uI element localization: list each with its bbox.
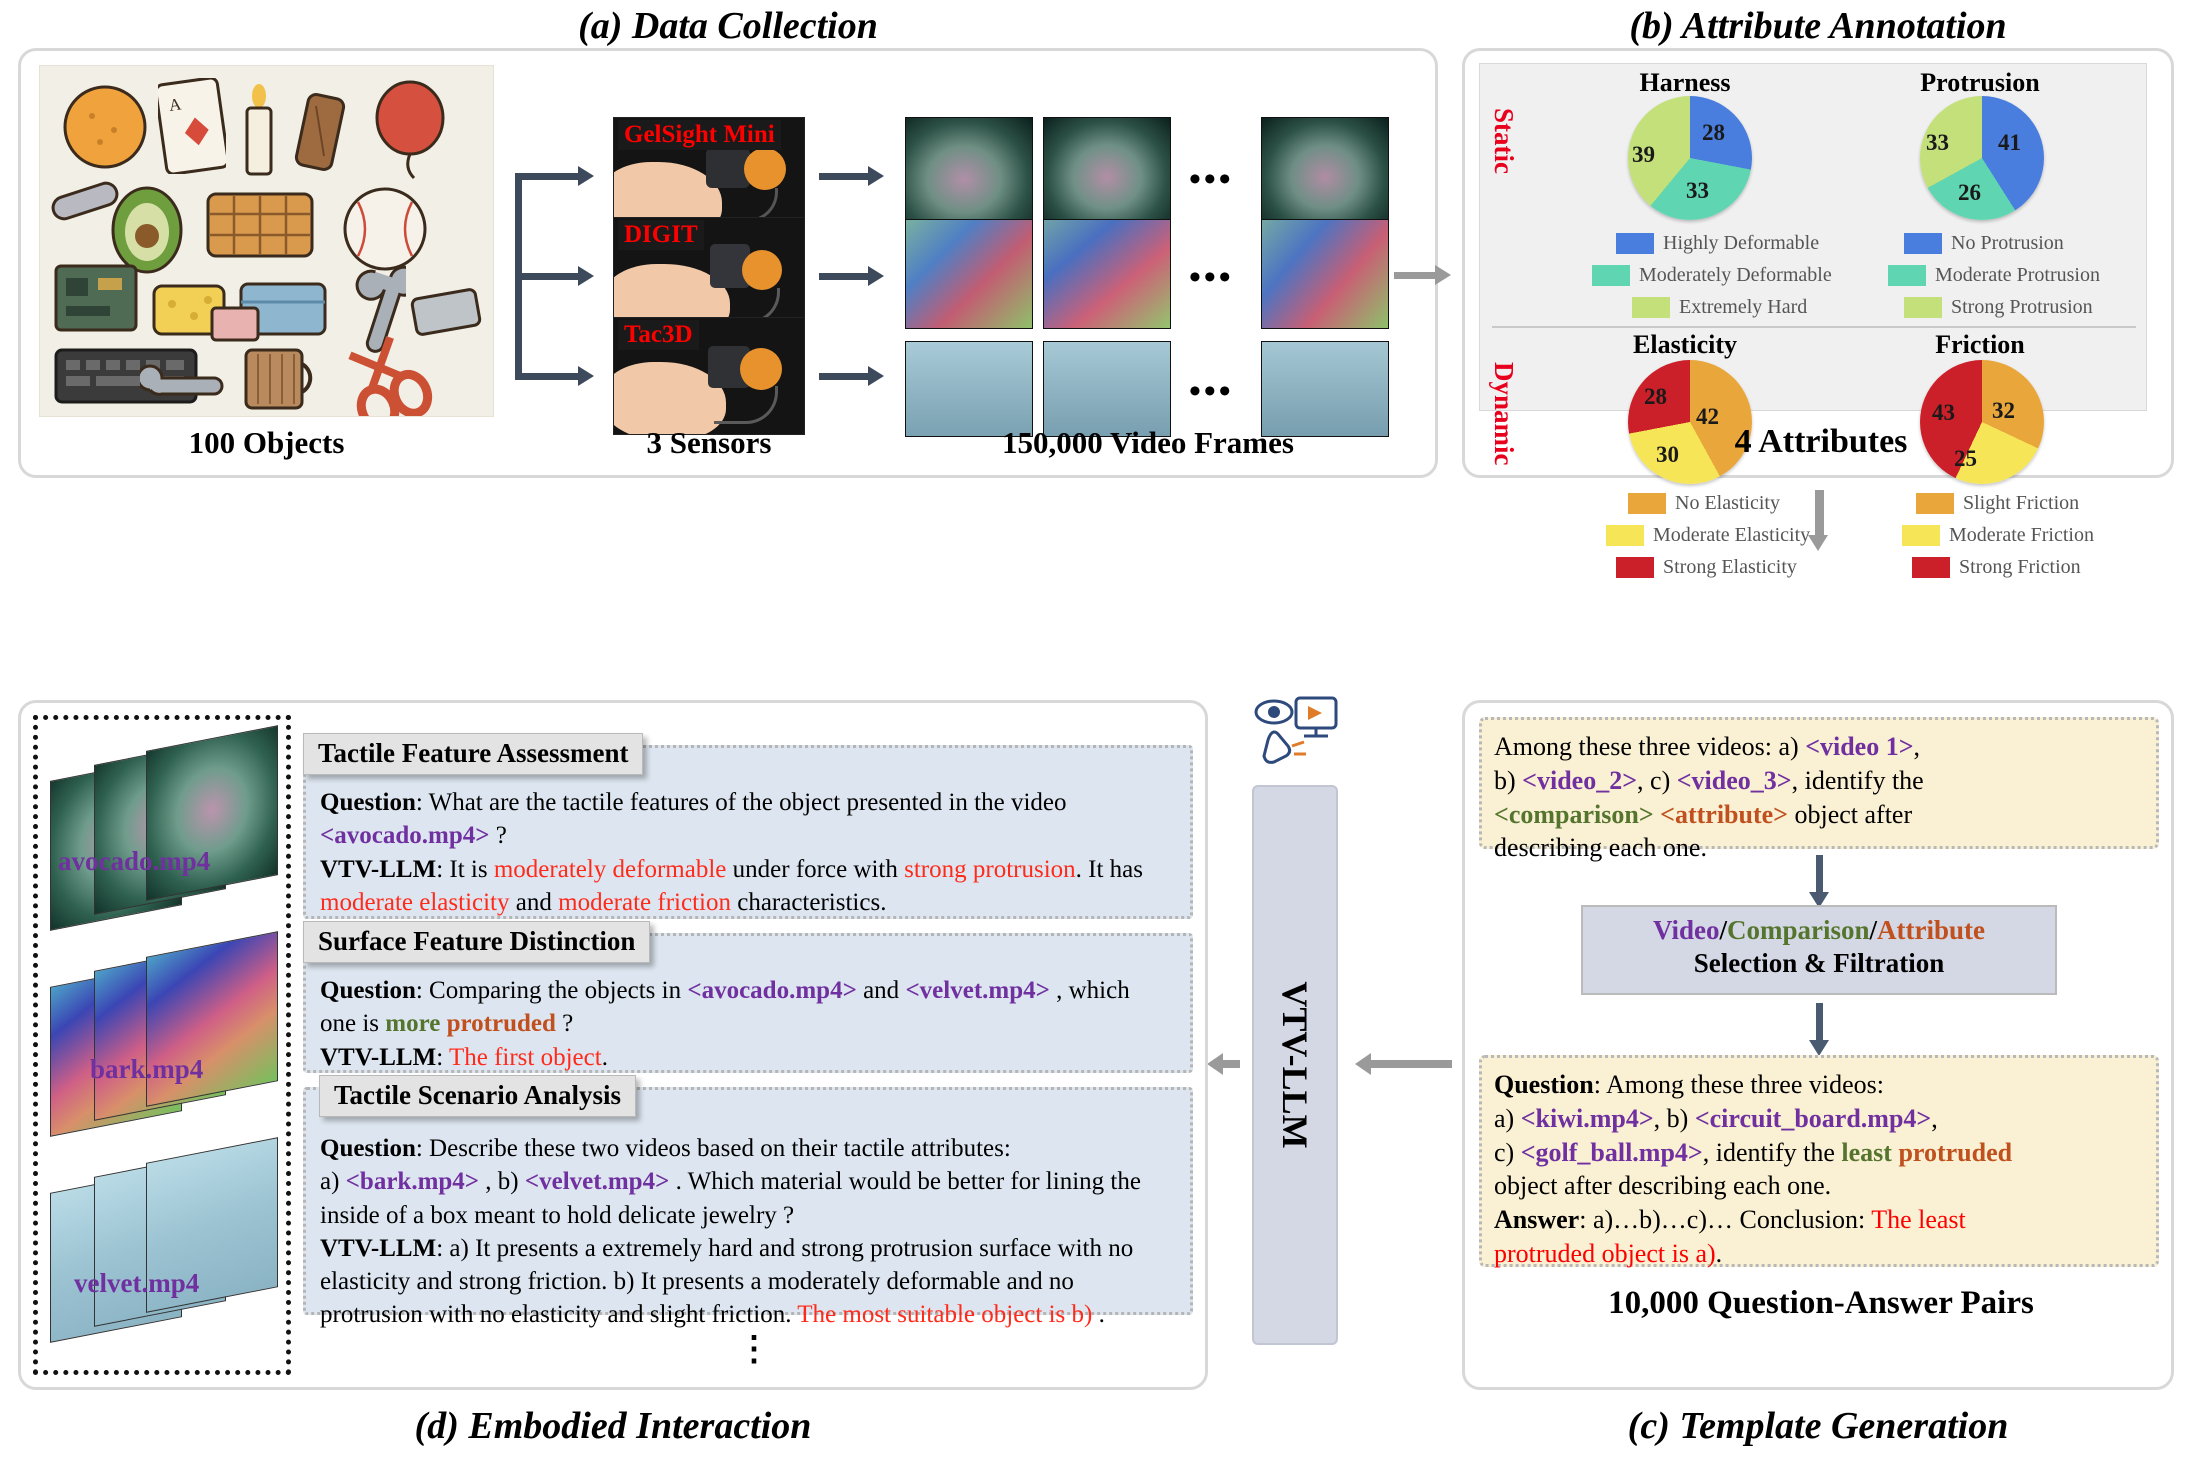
- selector-sep-2: /: [1870, 915, 1878, 945]
- example-l2a: a): [1494, 1104, 1521, 1133]
- card2-question-label: Question: [320, 977, 416, 1004]
- arrow-c-to-vtv: [1370, 1060, 1452, 1068]
- card1-ans-a: : It is: [436, 856, 494, 883]
- template-p1: Among these three videos: a): [1494, 732, 1805, 761]
- qa-example-box: Question: Among these three videos: a) <…: [1479, 1055, 2159, 1267]
- cards-vertical-ellipsis: ⋮: [737, 1329, 773, 1369]
- card3-l2b: , b): [479, 1168, 525, 1195]
- selection-filtration-box: Video/Comparison/Attribute Selection & F…: [1581, 905, 2057, 995]
- pie-value-friction-0: 32: [1992, 398, 2015, 424]
- pie-value-harness-0: 28: [1702, 120, 1725, 146]
- attributes-caption: 4 Attributes: [1465, 423, 2177, 461]
- pie-title-friction: Friction: [1830, 330, 2130, 360]
- legend-protrusion-2: Strong Protrusion: [1904, 296, 2093, 319]
- legend-swatch: [1616, 557, 1654, 578]
- template-generation-panel: Among these three videos: a) <video 1>, …: [1462, 700, 2174, 1390]
- card2-q-b: and: [857, 977, 906, 1004]
- card3-l2c: . Which material would be better for lin…: [669, 1168, 1141, 1195]
- example-answer-red-1: The least: [1871, 1205, 1966, 1234]
- card2-q-e: ?: [556, 1010, 573, 1037]
- video-label-avocado: avocado.mp4: [58, 846, 210, 877]
- card1-q-a: : What are the tactile features of the o…: [416, 789, 1067, 816]
- example-q1: : Among these three videos:: [1594, 1070, 1884, 1099]
- card1-ans-red-2: strong protrusion: [904, 856, 1076, 883]
- selector-video: Video: [1653, 915, 1720, 945]
- frames-arrow-mid: [819, 273, 869, 280]
- legend-harness-1: Moderately Deformable: [1592, 264, 1832, 287]
- card1-ans-red-3: moderate elasticity: [320, 889, 510, 916]
- legend-harness-2: Extremely Hard: [1632, 296, 1807, 319]
- arrow-selector-to-example: [1816, 1003, 1823, 1041]
- pie-value-elasticity-2: 28: [1644, 384, 1667, 410]
- attribute-annotation-panel: Static Harness 28 33 39 Protrusion 41 26…: [1462, 48, 2174, 478]
- template-p5: , identify the: [1792, 766, 1924, 795]
- legend-swatch: [1592, 265, 1630, 286]
- card1-ans-red-1: moderately deformable: [494, 856, 727, 883]
- pie-chart-elasticity: [1628, 360, 1752, 484]
- legend-protrusion-0: No Protrusion: [1904, 232, 2064, 255]
- card3-ans-red: The most suitable object is b): [797, 1301, 1092, 1328]
- legend-friction-2: Strong Friction: [1912, 556, 2081, 579]
- frames-ellipsis-gelsight: •••: [1189, 161, 1234, 199]
- example-answer-label: Answer: [1494, 1205, 1579, 1234]
- card3-ans-b: elasticity and strong friction. b) It pr…: [320, 1268, 1074, 1295]
- object-scissors: [340, 330, 444, 417]
- frame-digit-2: [1043, 219, 1171, 329]
- template-video1: <video 1>: [1805, 732, 1913, 761]
- card1-ans-e: characteristics.: [731, 889, 886, 916]
- frame-tac3d-1: [905, 341, 1033, 437]
- data-collection-panel: A: [18, 48, 1438, 478]
- branch-arrow-bot: [521, 373, 579, 380]
- example-l4: object after describing each one.: [1494, 1171, 1831, 1200]
- selector-sep-1: /: [1719, 915, 1727, 945]
- selector-line: Video/Comparison/Attribute: [1583, 915, 2055, 946]
- arrow-vtv-to-d: [1222, 1060, 1240, 1068]
- qa-example-text: Question: Among these three videos: a) <…: [1482, 1058, 2156, 1281]
- legend-label: Strong Elasticity: [1663, 556, 1797, 579]
- legend-swatch: [1912, 557, 1950, 578]
- qa-tab-tactile-feature-assessment[interactable]: Tactile Feature Assessment: [303, 733, 643, 775]
- frames-arrow-bot: [819, 373, 869, 380]
- object-baseball: [340, 184, 430, 274]
- template-text: Among these three videos: a) <video 1>, …: [1482, 720, 2156, 875]
- example-l3b: , identify the: [1703, 1138, 1842, 1167]
- card3-answer-label: VTV-LLM: [320, 1235, 436, 1262]
- card2-ans-b: .: [602, 1044, 608, 1071]
- qa-tab-surface-feature-distinction[interactable]: Surface Feature Distinction: [303, 921, 650, 963]
- video-label-bark: bark.mp4: [90, 1054, 203, 1085]
- example-question-label: Question: [1494, 1070, 1594, 1099]
- qa-card-3-text: Question: Describe these two videos base…: [306, 1090, 1190, 1340]
- example-video-circuit: <circuit_board.mp4>: [1695, 1104, 1931, 1133]
- qa-tab-tactile-scenario-analysis[interactable]: Tactile Scenario Analysis: [319, 1075, 636, 1117]
- frame-digit-3: [1261, 219, 1389, 329]
- example-video-golf: <golf_ball.mp4>: [1521, 1138, 1703, 1167]
- legend-label: Slight Friction: [1963, 492, 2079, 515]
- object-mug: [236, 340, 332, 417]
- object-waffle: [204, 188, 318, 262]
- legend-label: Moderate Elasticity: [1653, 524, 1810, 547]
- pie-value-harness-1: 33: [1686, 178, 1709, 204]
- sensor-label-gelsight: GelSight Mini: [618, 120, 781, 150]
- branch-arrow-mid: [521, 273, 579, 280]
- legend-swatch: [1632, 297, 1670, 318]
- arrow-template-to-selector: [1816, 855, 1823, 893]
- pie-title-protrusion: Protrusion: [1830, 68, 2130, 98]
- card1-q-b: ?: [489, 822, 506, 849]
- card3-question-label: Question: [320, 1135, 416, 1162]
- card3-l2a: a): [320, 1168, 346, 1195]
- card3-ans-a: : a) It presents a extremely hard and st…: [436, 1235, 1133, 1262]
- legend-label: Strong Protrusion: [1951, 296, 2093, 319]
- object-wood: [294, 90, 350, 174]
- section-title-d: (d) Embodied Interaction: [18, 1404, 1208, 1448]
- template-comparison: <comparison>: [1494, 800, 1654, 829]
- legend-swatch: [1628, 493, 1666, 514]
- card1-ans-c: . It has: [1076, 856, 1143, 883]
- objects-caption: 100 Objects: [39, 425, 494, 461]
- section-title-a: (a) Data Collection: [18, 4, 1438, 48]
- legend-protrusion-1: Moderate Protrusion: [1888, 264, 2100, 287]
- legend-swatch: [1888, 265, 1926, 286]
- template-p6: object after: [1788, 800, 1912, 829]
- card2-ans-a: :: [436, 1044, 449, 1071]
- video-stacks-container: ••• avocado.mp4 ••• bark.mp4 ••• velvet.…: [33, 715, 291, 1375]
- example-video-kiwi: <kiwi.mp4>: [1521, 1104, 1654, 1133]
- frames-ellipsis-tac3d: •••: [1189, 373, 1234, 411]
- card2-q-a: : Comparing the objects in: [416, 977, 687, 1004]
- frames-arrow-top: [819, 173, 869, 180]
- selector-comparison: Comparison: [1727, 915, 1870, 945]
- template-video3: <video_3>: [1677, 766, 1792, 795]
- example-a1: : a)…b)…c)… Conclusion:: [1579, 1205, 1871, 1234]
- card3-video-file-2: <velvet.mp4>: [525, 1168, 669, 1195]
- object-candle: [236, 76, 282, 180]
- card1-ans-red-4: moderate friction: [558, 889, 731, 916]
- card2-more: more: [385, 1010, 440, 1037]
- card3-ans-c: protrusion with no elasticity and slight…: [320, 1301, 797, 1328]
- legend-swatch: [1904, 297, 1942, 318]
- video-stack-velvet: ••• velvet.mp4: [46, 1136, 286, 1346]
- legend-label: Strong Friction: [1959, 556, 2081, 579]
- template-p2: ,: [1914, 732, 1921, 761]
- branch-trunk: [515, 173, 522, 380]
- example-least: least: [1841, 1138, 1892, 1167]
- object-wrench-small: [140, 352, 236, 414]
- template-text-box: Among these three videos: a) <video 1>, …: [1479, 717, 2159, 849]
- example-protruded: protruded: [1898, 1138, 2012, 1167]
- example-answer-red-2: protruded object is a): [1494, 1239, 1716, 1268]
- frame-tac3d-3: [1261, 341, 1389, 437]
- example-l2b: , b): [1654, 1104, 1695, 1133]
- template-video2: <video_2>: [1522, 766, 1637, 795]
- card2-video-file-1: <avocado.mp4>: [687, 977, 856, 1004]
- template-p4: , c): [1637, 766, 1677, 795]
- qa-card-tactile-scenario-analysis: Question: Describe these two videos base…: [303, 1087, 1193, 1315]
- legend-swatch: [1904, 233, 1942, 254]
- sensor-photo-tac3d: Tac3D: [613, 317, 805, 435]
- legend-friction-1: Moderate Friction: [1902, 524, 2094, 547]
- pie-value-harness-2: 39: [1632, 142, 1655, 168]
- legend-friction-0: Slight Friction: [1916, 492, 2079, 515]
- branch-arrow-top: [521, 173, 579, 180]
- arrow-a-to-b: [1394, 272, 1436, 279]
- object-playing-card: A: [158, 78, 226, 174]
- sensors-caption: 3 Sensors: [613, 425, 805, 461]
- object-orange: [62, 84, 148, 170]
- legend-label: No Elasticity: [1675, 492, 1780, 515]
- vtv-llm-block: VTV-LLM: [1252, 785, 1338, 1345]
- legend-swatch: [1916, 493, 1954, 514]
- frame-tac3d-2: [1043, 341, 1171, 437]
- card1-question-label: Question: [320, 789, 416, 816]
- pie-value-protrusion-0: 41: [1998, 130, 2021, 156]
- video-label-velvet: velvet.mp4: [74, 1268, 199, 1299]
- legend-swatch: [1616, 233, 1654, 254]
- template-p7: describing each one.: [1494, 833, 1707, 862]
- card2-q-d: one is: [320, 1010, 385, 1037]
- selector-attribute: Attribute: [1877, 915, 1985, 945]
- legend-label: Moderate Protrusion: [1935, 264, 2100, 287]
- card2-protruded: protruded: [447, 1010, 556, 1037]
- legend-label: Extremely Hard: [1679, 296, 1807, 319]
- legend-label: Moderate Friction: [1949, 524, 2094, 547]
- object-circuit-board: [52, 262, 140, 334]
- pie-title-elasticity: Elasticity: [1540, 330, 1830, 360]
- sensor-label-digit: DIGIT: [618, 220, 704, 250]
- vtv-llm-icon: [1248, 690, 1344, 772]
- attribute-charts-container: Static Harness 28 33 39 Protrusion 41 26…: [1479, 63, 2147, 411]
- frame-digit-1: [905, 219, 1033, 329]
- card2-answer-label: VTV-LLM: [320, 1044, 436, 1071]
- pie-title-harness: Harness: [1540, 68, 1830, 98]
- section-title-c: (c) Template Generation: [1462, 1404, 2174, 1448]
- legend-elasticity-1: Moderate Elasticity: [1606, 524, 1810, 547]
- legend-label: Highly Deformable: [1663, 232, 1819, 255]
- legend-elasticity-0: No Elasticity: [1628, 492, 1780, 515]
- object-avocado: [104, 178, 190, 274]
- card1-video-file: <avocado.mp4>: [320, 822, 489, 849]
- video-stack-avocado: ••• avocado.mp4: [46, 724, 286, 934]
- legend-elasticity-2: Strong Elasticity: [1616, 556, 1797, 579]
- template-attribute: <attribute>: [1660, 800, 1788, 829]
- example-l2c: ,: [1931, 1104, 1938, 1133]
- pie-chart-protrusion: [1920, 96, 2044, 220]
- example-l3a: c): [1494, 1138, 1521, 1167]
- qa-pairs-caption: 10,000 Question-Answer Pairs: [1465, 1285, 2177, 1322]
- card2-video-file-2: <velvet.mp4>: [905, 977, 1049, 1004]
- embodied-interaction-panel: ••• avocado.mp4 ••• bark.mp4 ••• velvet.…: [18, 700, 1208, 1390]
- example-a-end: .: [1716, 1239, 1723, 1268]
- arrow-b-to-c: [1815, 490, 1824, 536]
- object-balloon: [370, 80, 450, 180]
- card3-q-a: : Describe these two videos based on the…: [416, 1135, 1011, 1162]
- card1-ans-b: under force with: [726, 856, 904, 883]
- static-dynamic-divider: [1492, 326, 2136, 328]
- pie-value-protrusion-1: 26: [1958, 180, 1981, 206]
- template-p3: b): [1494, 766, 1522, 795]
- legend-harness-0: Highly Deformable: [1616, 232, 1819, 255]
- section-title-b: (b) Attribute Annotation: [1462, 4, 2174, 48]
- objects-illustration: A: [39, 65, 494, 417]
- pie-value-protrusion-2: 33: [1926, 130, 1949, 156]
- card1-answer-label: VTV-LLM: [320, 856, 436, 883]
- frames-ellipsis-digit: •••: [1189, 259, 1234, 297]
- vtv-llm-label: VTV-LLM: [1274, 981, 1316, 1148]
- video-stack-bark: ••• bark.mp4: [46, 930, 286, 1140]
- sensor-label-tac3d: Tac3D: [618, 320, 699, 350]
- selection-filtration-subtitle: Selection & Filtration: [1583, 948, 2055, 979]
- frames-caption: 150,000 Video Frames: [905, 425, 1391, 461]
- card3-video-file-1: <bark.mp4>: [346, 1168, 479, 1195]
- legend-label: No Protrusion: [1951, 232, 2064, 255]
- legend-label: Moderately Deformable: [1639, 264, 1832, 287]
- card3-l3: inside of a box meant to hold delicate j…: [320, 1202, 794, 1229]
- card1-ans-d: and: [510, 889, 559, 916]
- card3-ans-d: .: [1092, 1301, 1105, 1328]
- card2-q-c: , which: [1050, 977, 1130, 1004]
- row-label-static: Static: [1488, 108, 1519, 174]
- legend-swatch: [1606, 525, 1644, 546]
- card2-ans-red: The first object: [449, 1044, 602, 1071]
- legend-swatch: [1902, 525, 1940, 546]
